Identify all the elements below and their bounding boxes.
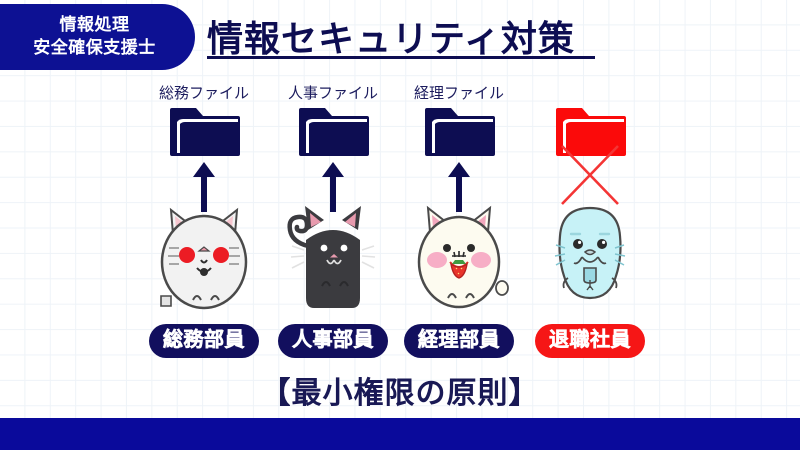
column-soumu: 総務ファイル [138, 82, 270, 372]
white-cat-icon [149, 200, 259, 318]
blue-seal-icon [535, 200, 645, 318]
cream-cat-with-strawberry-icon [404, 200, 514, 318]
title-underline [207, 56, 595, 59]
file-label: 経理ファイル [393, 82, 525, 103]
file-label: 人事ファイル [267, 82, 399, 103]
certification-line-1: 情報処理 [60, 14, 130, 37]
red-cross-icon [558, 144, 622, 206]
folder-icon [297, 102, 369, 162]
principle-caption: 【最小権限の原則】 [0, 368, 800, 412]
column-keiri: 経理ファイル [393, 82, 525, 372]
certification-line-2: 安全確保支援士 [33, 37, 156, 60]
column-retired: 退職社員 [524, 82, 656, 372]
folder-icon [423, 102, 495, 162]
black-cat-icon [278, 200, 388, 318]
certification-pill: 情報処理 安全確保支援士 [0, 4, 195, 70]
role-badge: 総務部員 [149, 324, 259, 358]
role-badge: 退職社員 [535, 324, 645, 358]
role-badge: 人事部員 [278, 324, 388, 358]
column-jinji: 人事ファイル [267, 82, 399, 372]
bottom-bar [0, 418, 800, 450]
slide-canvas: 情報処理 安全確保支援士 情報セキュリティ対策 総務ファイル [0, 0, 800, 450]
file-label: 総務ファイル [138, 82, 270, 103]
page-title: 情報セキュリティ対策 [207, 10, 575, 62]
role-badge: 経理部員 [404, 324, 514, 358]
folder-icon [168, 102, 240, 162]
